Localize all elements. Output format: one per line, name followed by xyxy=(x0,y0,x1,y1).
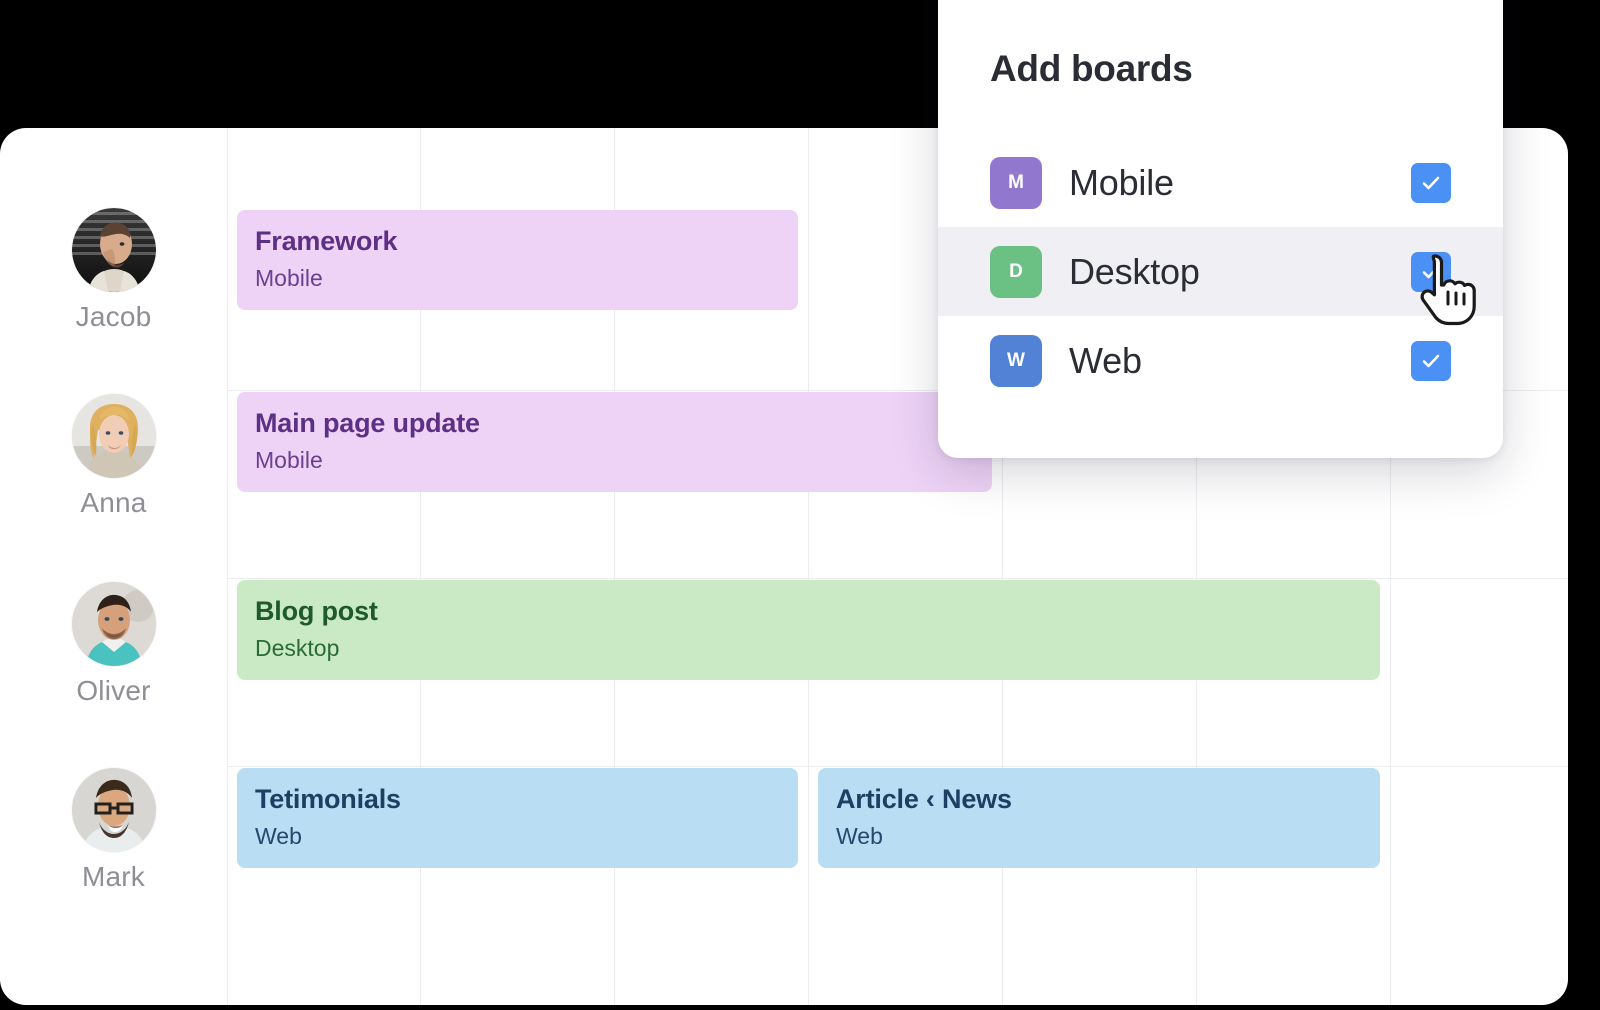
person-name: Oliver xyxy=(76,677,150,705)
task-title: Tetimonials xyxy=(255,784,798,815)
board-option-desktop[interactable]: D Desktop xyxy=(938,227,1503,316)
board-option-label: Mobile xyxy=(1069,162,1411,204)
task-board-label: Desktop xyxy=(255,635,1380,661)
grid-row-line xyxy=(227,766,1568,767)
check-icon xyxy=(1419,349,1443,373)
board-option-mobile[interactable]: M Mobile xyxy=(938,138,1503,227)
task-board-label: Web xyxy=(255,823,798,849)
board-badge-desktop: D xyxy=(990,246,1042,298)
board-initial: W xyxy=(1007,350,1025,372)
person-row-oliver[interactable]: Oliver xyxy=(0,582,227,705)
board-option-label: Desktop xyxy=(1069,251,1411,293)
board-option-web[interactable]: W Web xyxy=(938,316,1503,405)
sidebar-divider xyxy=(227,128,228,1005)
check-icon xyxy=(1419,260,1443,284)
person-name: Jacob xyxy=(76,303,152,331)
board-badge-web: W xyxy=(990,335,1042,387)
task-board-label: Web xyxy=(836,823,1380,849)
board-initial: D xyxy=(1009,261,1023,283)
people-sidebar: Jacob xyxy=(0,128,227,1005)
checkbox-web[interactable] xyxy=(1411,341,1451,381)
avatar-photo-jacob xyxy=(72,208,156,292)
checkbox-mobile[interactable] xyxy=(1411,163,1451,203)
grid-column-line xyxy=(808,128,809,1005)
board-badge-mobile: M xyxy=(990,157,1042,209)
task-bar-main-page-update[interactable]: Main page update Mobile xyxy=(237,392,992,492)
check-icon xyxy=(1419,171,1443,195)
board-initial: M xyxy=(1008,172,1024,194)
task-title: Main page update xyxy=(255,408,992,439)
avatar-photo-mark xyxy=(72,768,156,852)
task-board-label: Mobile xyxy=(255,447,992,473)
task-bar-tetimonials[interactable]: Tetimonials Web xyxy=(237,768,798,868)
avatar-photo-anna xyxy=(72,394,156,478)
avatar-photo-oliver xyxy=(72,582,156,666)
task-bar-blog-post[interactable]: Blog post Desktop xyxy=(237,580,1380,680)
checkbox-desktop[interactable] xyxy=(1411,252,1451,292)
task-title: Framework xyxy=(255,226,798,257)
screen-root: Jacob xyxy=(0,0,1600,1010)
task-title: Article ‹ News xyxy=(836,784,1380,815)
person-name: Mark xyxy=(82,863,145,891)
task-bar-framework[interactable]: Framework Mobile xyxy=(237,210,798,310)
person-row-anna[interactable]: Anna xyxy=(0,394,227,517)
task-bar-article-news[interactable]: Article ‹ News Web xyxy=(818,768,1380,868)
popup-title: Add boards xyxy=(990,50,1193,87)
person-row-mark[interactable]: Mark xyxy=(0,768,227,891)
task-board-label: Mobile xyxy=(255,265,798,291)
grid-row-line xyxy=(227,578,1568,579)
task-title: Blog post xyxy=(255,596,1380,627)
board-option-list: M Mobile D Desktop xyxy=(938,138,1503,405)
add-boards-popup: Add boards M Mobile D Desktop xyxy=(938,0,1503,458)
board-option-label: Web xyxy=(1069,340,1411,382)
person-row-jacob[interactable]: Jacob xyxy=(0,208,227,331)
person-name: Anna xyxy=(80,489,146,517)
